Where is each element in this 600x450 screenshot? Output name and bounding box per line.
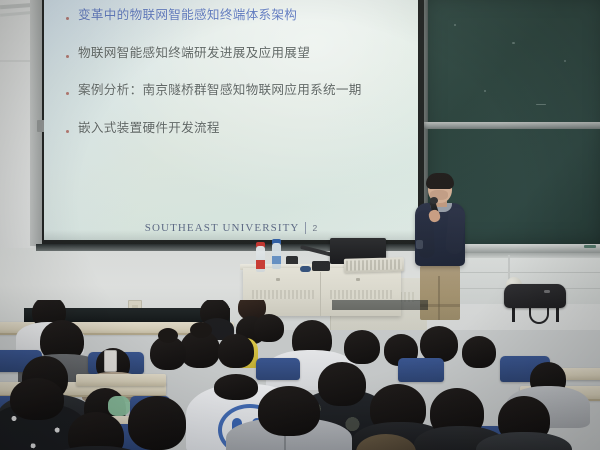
audience-head [214,374,258,400]
podium-lock [276,278,280,281]
bottle-label [272,256,281,264]
podium-mouse [300,266,311,272]
lecture-hall-screenshot: 变革中的物联网智能感知终端体系架构 物联网智能感知终端研发进展及应用展望 案例分… [0,0,600,450]
audience-head [10,378,64,420]
podium-vent [330,290,392,299]
slide-bullet-text: 变革中的物联网智能感知终端体系架构 [78,8,297,24]
slide-bullet-item: 案例分析：南京隧桥群智感知物联网应用系统一期 [66,83,406,99]
blackboard-divider-rail [424,122,600,129]
audience-hair-bun [190,322,212,338]
audience-head [258,386,320,436]
podium-vent [252,290,314,299]
podium-device [312,261,330,271]
presenter-hair [426,173,454,189]
audience-head [128,396,186,450]
audience-head [318,362,366,406]
hair-clip [104,350,117,372]
audience-hair-bun [158,328,178,343]
auditorium-chair [256,358,300,380]
projected-slide: 变革中的物联网智能感知终端体系架构 物联网智能感知终端研发进展及应用展望 案例分… [44,0,418,240]
podium-keyboard [344,257,404,273]
bullet-marker-icon [66,55,69,58]
slide-bullet-list: 变革中的物联网智能感知终端体系架构 物联网智能感知终端研发进展及应用展望 案例分… [66,8,406,159]
chalk-piece [584,245,596,248]
audience-head [420,326,458,362]
slide-bullet-item: 物联网智能感知终端研发进展及应用展望 [66,46,406,62]
slide-bullet-text: 嵌入式装置硬件开发流程 [78,121,220,137]
desk-row [76,374,166,386]
presenter-jacket-pocket [416,240,423,249]
audience-head [254,314,284,342]
auditorium-chair [398,358,444,382]
podium-lock [356,278,360,281]
audience-head [344,330,380,364]
tier-step [332,300,428,310]
audience-area [0,300,600,450]
slide-bullet-text: 物联网智能感知终端研发进展及应用展望 [78,46,310,62]
bottle-label [256,260,265,269]
bullet-marker-icon [66,17,69,20]
bullet-marker-icon [66,92,69,95]
slide-bullet-item: 嵌入式装置硬件开发流程 [66,121,406,137]
face-mask [108,396,130,416]
audience-head [218,334,254,368]
bullet-marker-icon [66,130,69,133]
microphone-head-icon [430,197,438,204]
slide-bullet-item: 变革中的物联网智能感知终端体系架构 [66,8,406,24]
slide-bullet-text: 案例分析：南京隧桥群智感知物联网应用系统一期 [78,83,362,99]
audience-head [462,336,496,368]
